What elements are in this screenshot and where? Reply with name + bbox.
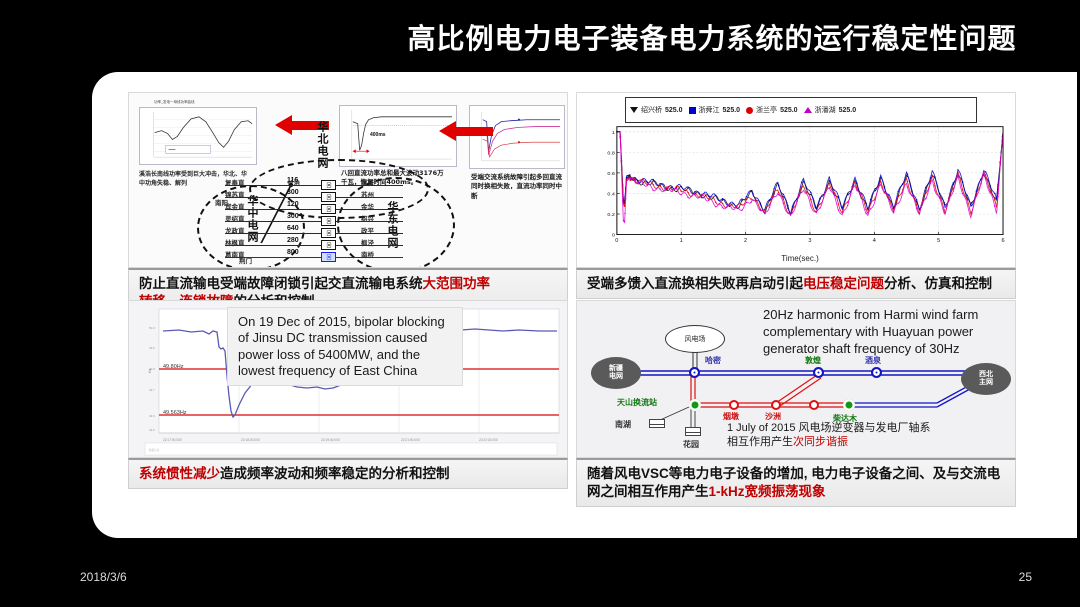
footer-date: 2018/3/6 bbox=[80, 570, 127, 584]
content-card: 功率_发电一母线功率曲线 bbox=[92, 72, 1077, 538]
caption-tl-plain1: 防止直流输电受端故障闭锁引起交直流输电系统 bbox=[139, 276, 423, 291]
dot-node-unnamed bbox=[809, 400, 819, 410]
ref-line-high-label: 49.80Hz bbox=[163, 364, 184, 370]
bus-line bbox=[225, 221, 403, 222]
converter-box: 回 bbox=[321, 180, 336, 190]
panel-top-left: 功率_发电一母线功率曲线 bbox=[128, 92, 568, 317]
bus-line bbox=[225, 257, 403, 258]
ellipse-north-grid bbox=[249, 159, 429, 219]
chart-xaxis-title: Time(sec.) bbox=[591, 254, 1009, 263]
caption-tr-plain2: 分析、仿真和控制 bbox=[884, 276, 992, 291]
map-footnote-line1: 1 July of 2015 风电场逆变器与发电厂轴系 bbox=[727, 422, 931, 434]
converter-box: 回 bbox=[321, 240, 336, 250]
svg-text:0: 0 bbox=[615, 238, 618, 244]
top-left-diagram: 功率_发电一母线功率曲线 bbox=[128, 92, 568, 268]
bus-name-right: 苏州 bbox=[361, 189, 374, 199]
label-hami: 哈密 bbox=[705, 355, 721, 366]
frequency-trace-image: 22:17:00.00022:18:20.000 22:19:40.00022:… bbox=[128, 300, 568, 458]
node-xinjiang-grid: 新疆 电网 bbox=[591, 357, 641, 389]
legend-item: 浙舜江525.0 bbox=[689, 105, 741, 115]
bus-value: 800 bbox=[287, 249, 299, 256]
map-footnote: 1 July of 2015 风电场逆变器与发电厂轴系 相互作用产生次同步谐振 bbox=[727, 421, 957, 450]
caption-bl-hl: 系统惯性减少 bbox=[139, 466, 220, 481]
converter-box: 回 bbox=[321, 192, 336, 202]
converter-box: 回 bbox=[321, 216, 336, 226]
square-icon bbox=[689, 107, 696, 114]
label-tianshan-station: 天山换流站 bbox=[617, 397, 657, 408]
svg-text:0.2: 0.2 bbox=[607, 212, 615, 218]
bus-name-right: 奉贤 bbox=[361, 177, 374, 187]
node-xinjiang-line1: 新疆 bbox=[609, 365, 623, 373]
page-title: 高比例电力电子装备电力系统的运行稳定性问题 bbox=[407, 17, 1016, 57]
bus-line bbox=[225, 209, 403, 210]
top-right-chart: 绍兴桥525.0浙舜江525.0浙兰亭525.0浙潘湖525.0 00.20.4… bbox=[576, 92, 1016, 268]
label-central-grid: 华中电网 bbox=[247, 195, 258, 243]
bus-line bbox=[225, 245, 403, 246]
node-xinjiang-line2: 电网 bbox=[609, 373, 623, 381]
tx-box-nanhu bbox=[649, 419, 665, 428]
bus-name-right: 金华 bbox=[361, 201, 374, 211]
node-northwest-line1: 西北 bbox=[979, 371, 993, 379]
legend-label: 浙兰亭 bbox=[756, 105, 777, 115]
svg-text:49.9: 49.9 bbox=[149, 346, 155, 350]
bus-name-left: 复奉直 bbox=[225, 177, 245, 187]
converter-box: 回 bbox=[321, 252, 336, 262]
triangle-down-icon bbox=[630, 107, 638, 113]
tx-box-huayuan bbox=[685, 427, 701, 436]
circle-icon bbox=[746, 107, 753, 114]
svg-text:49.5: 49.5 bbox=[149, 428, 155, 432]
svg-text:0.8: 0.8 bbox=[607, 151, 615, 157]
slide-title-bar: 高比例电力电子装备电力系统的运行稳定性问题 bbox=[362, 14, 1062, 60]
bus-value: 280 bbox=[287, 237, 299, 244]
svg-text:6: 6 bbox=[1001, 238, 1004, 244]
bus-name-left: 林枫直 bbox=[225, 237, 245, 247]
legend-value: 525.0 bbox=[723, 107, 741, 114]
svg-text:22:22:20.000: 22:22:20.000 bbox=[479, 438, 498, 442]
ac-fault-annotation: 受端交流系统故障引起多回直流同时换相失败，直流功率同时中断 bbox=[471, 173, 567, 201]
caption-tl-hl1: 大范围功率 bbox=[423, 276, 491, 291]
legend-value: 525.0 bbox=[780, 107, 798, 114]
bus-name-left: 灵绍直 bbox=[225, 213, 245, 223]
panel-bottom-left: 22:17:00.00022:18:20.000 22:19:40.00022:… bbox=[128, 300, 568, 489]
dot-dunhuang bbox=[813, 367, 824, 378]
bus-name-right: 绍兴 bbox=[361, 213, 374, 223]
svg-text:0.6: 0.6 bbox=[607, 171, 615, 177]
dot-yandun bbox=[729, 400, 739, 410]
label-north-grid: 华北电网 bbox=[317, 121, 328, 169]
svg-text:1: 1 bbox=[680, 238, 683, 244]
label-jiuquan: 酒泉 bbox=[865, 355, 881, 366]
caption-tr-hl: 电压稳定问题 bbox=[803, 276, 884, 291]
chart-legend: 绍兴桥525.0浙舜江525.0浙兰亭525.0浙潘湖525.0 bbox=[625, 97, 977, 123]
legend-label: 浙舜江 bbox=[699, 105, 720, 115]
legend-item: 浙潘湖525.0 bbox=[804, 105, 857, 115]
legend-value: 525.0 bbox=[839, 107, 857, 114]
dot-jiuquan bbox=[871, 367, 882, 378]
dot-shazhou bbox=[771, 400, 781, 410]
bus-name-left: 龙政直 bbox=[225, 225, 245, 235]
legend-label: 浙潘湖 bbox=[815, 105, 836, 115]
caption-tr-plain1: 受端多馈入直流换相失败再启动引起 bbox=[587, 276, 803, 291]
waveform-svg bbox=[140, 108, 256, 165]
svg-text:0.4: 0.4 bbox=[607, 192, 615, 198]
time-marker-label: 400ms bbox=[370, 132, 386, 138]
svg-text:4: 4 bbox=[873, 238, 876, 244]
legend-value: 525.0 bbox=[665, 107, 683, 114]
node-northwest-grid: 西北 主网 bbox=[961, 363, 1011, 395]
svg-text:5: 5 bbox=[937, 238, 940, 244]
bus-value: 300 bbox=[287, 213, 299, 220]
panel-top-right: 绍兴桥525.0浙舜江525.0浙兰亭525.0浙潘湖525.0 00.20.4… bbox=[576, 92, 1016, 299]
bottom-left-callout: On 19 Dec of 2015, bipolar blocking of J… bbox=[227, 307, 463, 386]
svg-text:50.0: 50.0 bbox=[149, 326, 155, 330]
label-huayuan: 花园 bbox=[683, 439, 699, 450]
svg-text:22:17:00.000: 22:17:00.000 bbox=[163, 438, 182, 442]
label-nanhu: 南湖 bbox=[615, 419, 631, 430]
bus-line bbox=[225, 197, 403, 198]
slide-root: 高比例电力电子装备电力系统的运行稳定性问题 功率_发电一母线功率曲线 bbox=[0, 0, 1080, 607]
caption-bottom-right: 随着风电VSC等电力电子设备的增加, 电力电子设备之间、及与交流电网之间相互作用… bbox=[576, 458, 1016, 507]
mini-plot-title: 功率_发电一母线功率曲线 bbox=[154, 100, 194, 105]
caption-top-right: 受端多馈入直流换相失败再启动引起电压稳定问题分析、仿真和控制 bbox=[576, 268, 1016, 299]
legend-label: 绍兴桥 bbox=[641, 105, 662, 115]
svg-text:2: 2 bbox=[744, 238, 747, 244]
caption-bl-plain: 造成频率波动和频率稳定的分析和控制 bbox=[220, 466, 450, 481]
svg-text:22:18:20.000: 22:18:20.000 bbox=[241, 438, 260, 442]
voltage-chart-svg: 00.20.40.60.810123456 bbox=[591, 123, 1009, 251]
bus-value: 120 bbox=[287, 201, 299, 208]
dot-hami bbox=[689, 367, 700, 378]
map-footnote-line2-hl: 次同步谐振 bbox=[793, 436, 848, 448]
node-northwest-line2: 主网 bbox=[979, 379, 993, 387]
bus-name-left: 锦苏直 bbox=[225, 189, 245, 199]
bus-value: 116 bbox=[287, 177, 298, 184]
northwest-grid-map: 20Hz harmonic from Harmi wind farm compl… bbox=[576, 300, 1016, 458]
bus-name-right: 南桥 bbox=[361, 249, 374, 259]
svg-text:22:19:40.000: 22:19:40.000 bbox=[321, 438, 340, 442]
bus-name-left: 宾金直 bbox=[225, 201, 245, 211]
red-arrow-right-icon bbox=[439, 121, 493, 141]
dot-tianshan-station bbox=[689, 399, 701, 411]
svg-text:49.6: 49.6 bbox=[149, 414, 155, 418]
bus-line bbox=[225, 185, 403, 186]
ref-line-low-label: 49.563Hz bbox=[163, 410, 187, 416]
map-footnote-line2-plain: 相互作用产生 bbox=[727, 436, 793, 448]
triangle-up-icon bbox=[804, 107, 812, 113]
label-dunhuang: 敦煌 bbox=[805, 355, 821, 366]
caption-br-hl: 1-kHz宽频振荡现象 bbox=[709, 484, 826, 499]
legend-item: 绍兴桥525.0 bbox=[630, 105, 683, 115]
svg-text:1: 1 bbox=[612, 130, 615, 136]
node-wind-farm: 风电场 bbox=[665, 325, 725, 353]
footer-page-number: 25 bbox=[1019, 570, 1032, 584]
power-waveform-plot: 功率_发电一母线功率曲线 bbox=[139, 107, 257, 165]
svg-text:3: 3 bbox=[808, 238, 811, 244]
caption-bottom-left: 系统惯性减少造成频率波动和频率稳定的分析和控制 bbox=[128, 458, 568, 489]
bus-value: 300 bbox=[287, 189, 299, 196]
svg-text:49.8: 49.8 bbox=[149, 367, 155, 371]
bus-name-right: 政平 bbox=[361, 225, 374, 235]
svg-text:22:21:00.000: 22:21:00.000 bbox=[401, 438, 420, 442]
svg-text:49.7: 49.7 bbox=[149, 388, 155, 392]
converter-box: 回 bbox=[321, 228, 336, 238]
bus-line bbox=[225, 233, 403, 234]
legend-item: 浙兰亭525.0 bbox=[746, 105, 798, 115]
dot-chaidamu bbox=[843, 399, 855, 411]
voltage-chart-area: 00.20.40.60.810123456 Time(sec.) bbox=[591, 123, 1009, 263]
converter-box: 回 bbox=[321, 204, 336, 214]
svg-text:数据记录: 数据记录 bbox=[149, 448, 160, 452]
bus-name-left: 葛南直 bbox=[225, 249, 245, 259]
bus-name-right: 枫泾 bbox=[361, 237, 374, 247]
panel-bottom-right: 20Hz harmonic from Harmi wind farm compl… bbox=[576, 300, 1016, 507]
bus-value: 640 bbox=[287, 225, 299, 232]
